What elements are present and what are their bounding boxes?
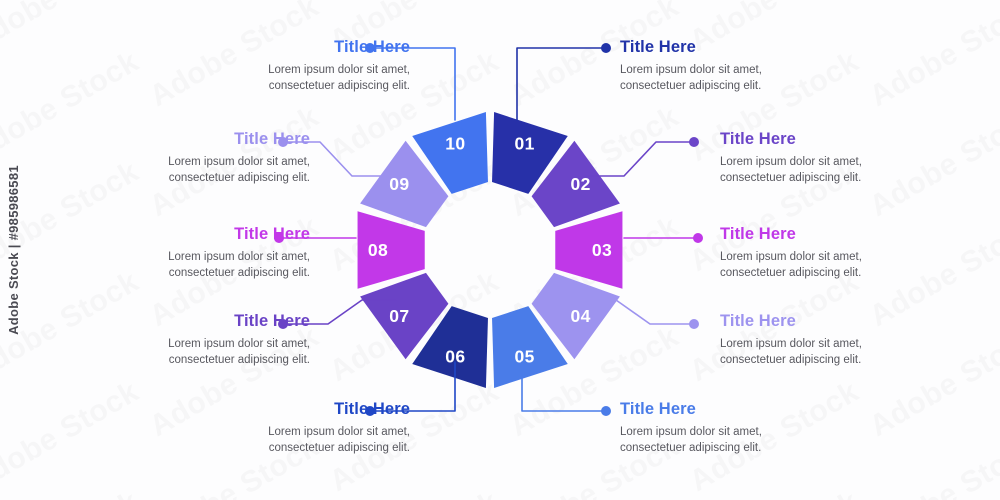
connector-dot-label-02 xyxy=(689,137,699,147)
label-block-label-01: Title HereLorem ipsum dolor sit amet,con… xyxy=(620,38,834,95)
label-block-label-02: Title HereLorem ipsum dolor sit amet,con… xyxy=(720,130,934,187)
label-title-label-03: Title Here xyxy=(720,225,934,243)
watermark-tile: Adobe Stock xyxy=(0,485,145,500)
label-body-label-03: Lorem ipsum dolor sit amet,consectetuer … xyxy=(720,249,934,282)
label-body-label-07: Lorem ipsum dolor sit amet,consectetuer … xyxy=(96,336,310,369)
wheel-segment-number-02: 02 xyxy=(570,174,590,194)
watermark-tile: Adobe Stock xyxy=(144,0,325,4)
label-block-label-10: Title HereLorem ipsum dolor sit amet,con… xyxy=(196,38,410,95)
label-block-label-08: Title HereLorem ipsum dolor sit amet,con… xyxy=(96,225,310,282)
connector-dot-label-04 xyxy=(689,319,699,329)
label-title-label-02: Title Here xyxy=(720,130,934,148)
label-title-label-01: Title Here xyxy=(620,38,834,56)
watermark-tile: Adobe Stock xyxy=(0,375,145,499)
label-body-label-05: Lorem ipsum dolor sit amet,consectetuer … xyxy=(620,424,834,457)
connector-dot-label-03 xyxy=(693,233,703,243)
wheel-segment-number-04: 04 xyxy=(570,306,590,326)
wheel-segment-number-08: 08 xyxy=(368,240,388,260)
label-title-label-04: Title Here xyxy=(720,312,934,330)
label-body-label-08: Lorem ipsum dolor sit amet,consectetuer … xyxy=(96,249,310,282)
label-title-label-10: Title Here xyxy=(196,38,410,56)
wheel-segment-number-10: 10 xyxy=(445,133,465,153)
label-body-label-06: Lorem ipsum dolor sit amet,consectetuer … xyxy=(196,424,410,457)
wheel-segment-number-05: 05 xyxy=(514,347,534,367)
wheel-segment-number-01: 01 xyxy=(514,133,534,153)
watermark-tile: Adobe Stock xyxy=(864,430,1000,500)
watermark-tile: Adobe Stock xyxy=(504,0,685,4)
label-title-label-08: Title Here xyxy=(96,225,310,243)
label-body-label-02: Lorem ipsum dolor sit amet,consectetuer … xyxy=(720,154,934,187)
watermark-tile: Adobe Stock xyxy=(324,485,505,500)
label-body-label-09: Lorem ipsum dolor sit amet,consectetuer … xyxy=(96,154,310,187)
wheel-segment-number-07: 07 xyxy=(389,306,409,326)
watermark-tile: Adobe Stock xyxy=(864,0,1000,4)
donut-wheel-chart: 01020304050607080910 xyxy=(350,110,630,390)
infographic-canvas: Adobe StockAdobe StockAdobe StockAdobe S… xyxy=(0,0,1000,500)
label-block-label-03: Title HereLorem ipsum dolor sit amet,con… xyxy=(720,225,934,282)
wheel-segment-number-03: 03 xyxy=(592,240,612,260)
label-block-label-05: Title HereLorem ipsum dolor sit amet,con… xyxy=(620,400,834,457)
watermark-tile: Adobe Stock xyxy=(0,0,145,59)
label-title-label-09: Title Here xyxy=(96,130,310,148)
label-body-label-04: Lorem ipsum dolor sit amet,consectetuer … xyxy=(720,336,934,369)
label-block-label-07: Title HereLorem ipsum dolor sit amet,con… xyxy=(96,312,310,369)
watermark-tile: Adobe Stock xyxy=(684,485,865,500)
wheel-segment-number-09: 09 xyxy=(389,174,409,194)
wheel-segment-number-06: 06 xyxy=(445,347,465,367)
connector-dot-label-01 xyxy=(601,43,611,53)
watermark-tile: Adobe Stock xyxy=(864,0,1000,114)
label-block-label-06: Title HereLorem ipsum dolor sit amet,con… xyxy=(196,400,410,457)
label-body-label-10: Lorem ipsum dolor sit amet,consectetuer … xyxy=(196,62,410,95)
label-title-label-05: Title Here xyxy=(620,400,834,418)
label-title-label-06: Title Here xyxy=(196,400,410,418)
label-block-label-04: Title HereLorem ipsum dolor sit amet,con… xyxy=(720,312,934,369)
label-title-label-07: Title Here xyxy=(96,312,310,330)
watermark-id-text: Adobe Stock | #985986581 xyxy=(6,165,21,335)
label-block-label-09: Title HereLorem ipsum dolor sit amet,con… xyxy=(96,130,310,187)
connector-dot-label-05 xyxy=(601,406,611,416)
label-body-label-01: Lorem ipsum dolor sit amet,consectetuer … xyxy=(620,62,834,95)
